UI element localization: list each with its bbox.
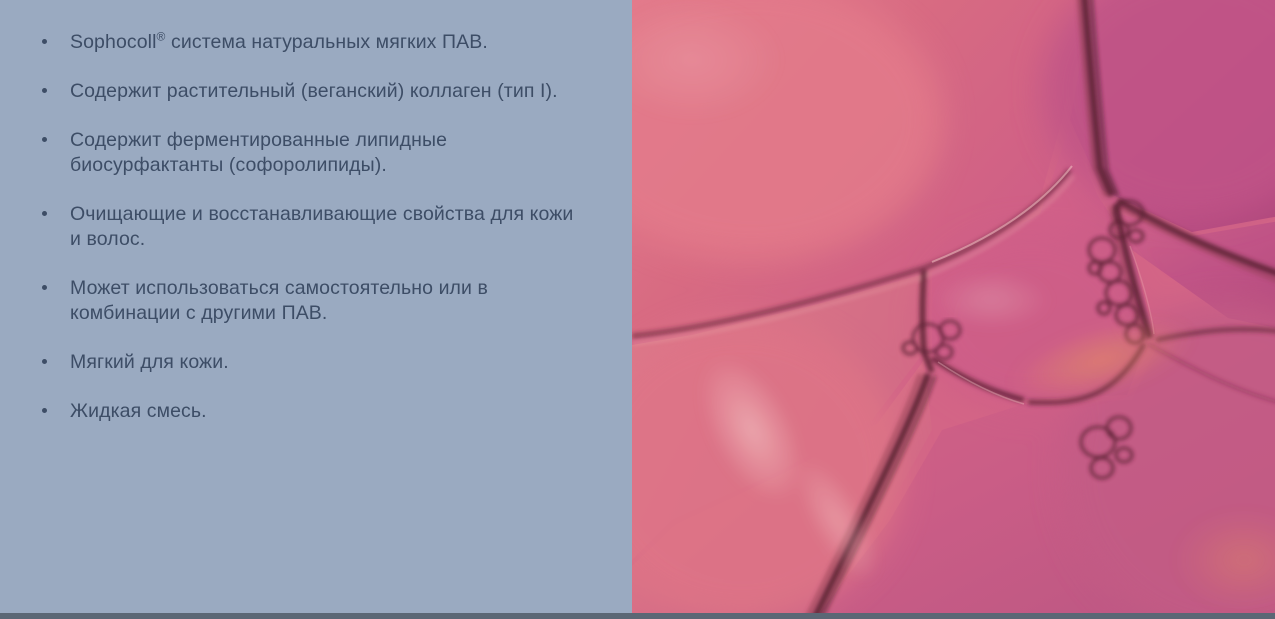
bullet-text: Очищающие и восстанавливающие свойства д… [70,202,585,252]
bullet-text-rest: система натуральных мягких ПАВ. [166,31,488,53]
bullet-dot-icon [42,137,47,142]
feature-bullet-list: Sophocoll® система натуральных мягких ПА… [42,30,588,424]
brand-name: Sophocoll [70,31,157,53]
text-panel: Sophocoll® система натуральных мягких ПА… [0,0,632,613]
bullet-dot-icon [42,88,47,93]
registered-trademark-icon: ® [157,30,166,44]
bullet-dot-icon [42,285,47,290]
list-item: Sophocoll® система натуральных мягких ПА… [42,30,585,55]
bullet-dot-icon [42,408,47,413]
bullet-text: Может использоваться самостоятельно или … [70,276,585,326]
slide: Sophocoll® система натуральных мягких ПА… [0,0,1275,619]
list-item: Содержит ферментированные липидные биосу… [42,128,585,178]
list-item: Жидкая смесь. [42,399,585,424]
bullet-text: Sophocoll® система натуральных мягких ПА… [70,30,585,55]
bullet-text: Мягкий для кожи. [70,350,585,375]
list-item: Может использоваться самостоятельно или … [42,276,585,326]
bullet-dot-icon [42,359,47,364]
bubble-photo-illustration [632,0,1275,613]
list-item: Очищающие и восстанавливающие свойства д… [42,202,585,252]
bullet-text: Содержит ферментированные липидные биосу… [70,128,585,178]
footer-bar [0,613,1275,619]
list-item: Содержит растительный (веганский) коллаг… [42,79,585,104]
list-item: Мягкий для кожи. [42,350,585,375]
bullet-text: Жидкая смесь. [70,399,585,424]
bullet-text: Содержит растительный (веганский) коллаг… [70,79,585,104]
bubble-photo [632,0,1275,613]
bullet-dot-icon [42,39,47,44]
bullet-dot-icon [42,211,47,216]
